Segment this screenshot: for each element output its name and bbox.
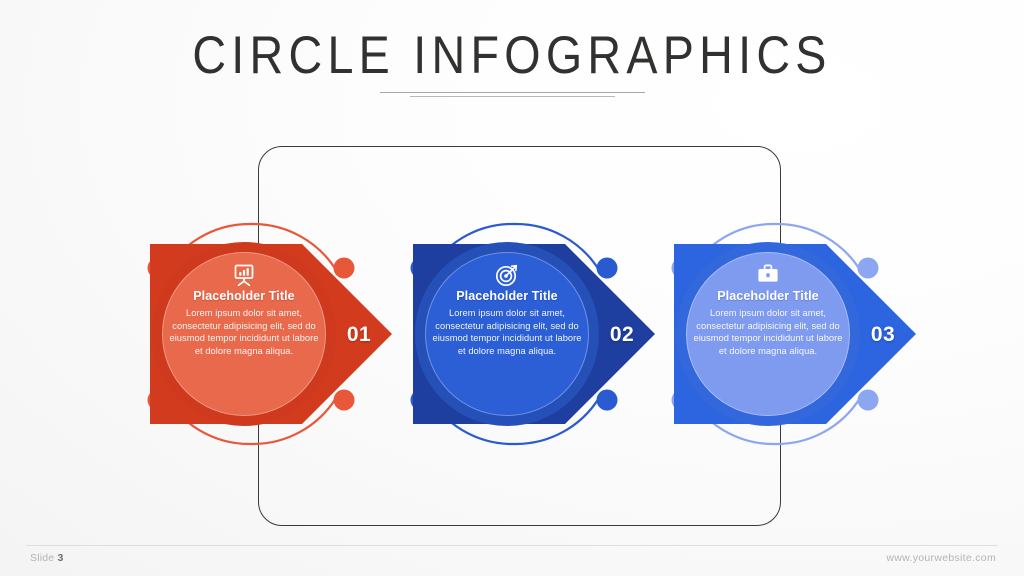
step-item-01[interactable]: Placeholder Title Lorem ipsum dolor sit … [140,222,390,446]
step-title: Placeholder Title [717,289,819,303]
step-body-text: Lorem ipsum dolor sit amet, consectetur … [431,307,583,357]
step-content: Placeholder Title Lorem ipsum dolor sit … [162,252,326,416]
step-content: Placeholder Title Lorem ipsum dolor sit … [425,252,589,416]
slide-label: Slide [30,552,54,564]
step-body-text: Lorem ipsum dolor sit amet, consectetur … [168,307,320,357]
slide-canvas: CIRCLE INFOGRAPHICS [0,0,1024,576]
step-title: Placeholder Title [456,289,558,303]
title-divider-line-lower [410,96,615,97]
title-block: CIRCLE INFOGRAPHICS [0,26,1024,97]
step-number-badge: 03 [860,322,906,348]
step-title: Placeholder Title [193,289,295,303]
slide-number: 3 [57,552,63,564]
step-item-02[interactable]: Placeholder Title Lorem ipsum dolor sit … [403,222,653,446]
step-content: Placeholder Title Lorem ipsum dolor sit … [686,252,850,416]
step-item-03[interactable]: Placeholder Title Lorem ipsum dolor sit … [664,222,914,446]
step-number-badge: 02 [599,322,645,348]
title-divider-line-upper [380,92,645,93]
step-body-text: Lorem ipsum dolor sit amet, consectetur … [692,307,844,357]
website-url: www.yourwebsite.com [886,552,996,564]
briefcase-icon [755,262,781,288]
footer-divider [26,545,998,546]
title-divider [0,92,1024,97]
presentation-chart-icon [231,262,257,288]
target-arrow-icon [494,262,520,288]
page-title: CIRCLE INFOGRAPHICS [61,26,962,86]
step-number-badge: 01 [336,322,382,348]
slide-indicator: Slide 3 [30,552,64,564]
